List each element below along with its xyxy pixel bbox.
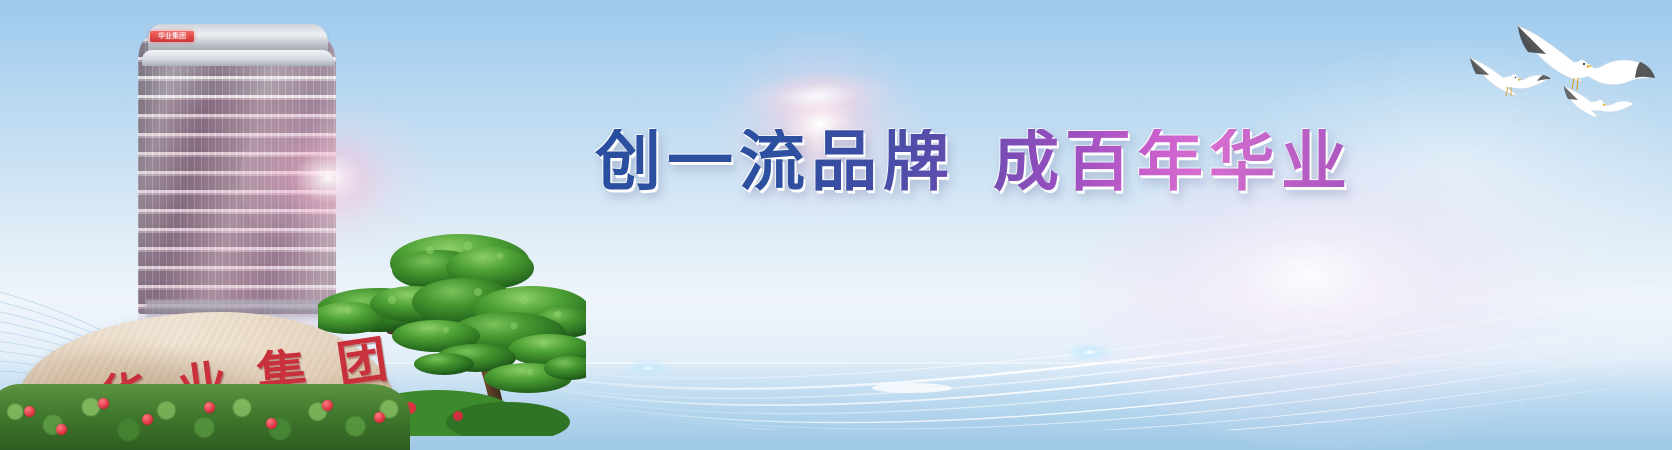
hedge-flower <box>56 424 67 435</box>
hero-banner: 华业集团 <box>0 0 1672 450</box>
hedge-flower <box>98 398 109 409</box>
hedge-flower <box>24 406 35 417</box>
slogan-part-1: 创一流品牌 <box>595 123 955 200</box>
flower-hedge <box>0 384 410 450</box>
office-tower-building: 华业集团 <box>138 24 336 314</box>
tower-facade <box>138 38 336 314</box>
hedge-flower <box>374 412 385 423</box>
slogan-headline: 创一流品牌成百年华业 <box>595 129 1353 195</box>
tower-crown-band <box>142 50 334 66</box>
hedge-flower <box>142 414 153 425</box>
seagull-group <box>1378 8 1668 120</box>
hedge-flower <box>322 400 333 411</box>
hedge-flower <box>204 402 215 413</box>
hedge-flower <box>266 418 277 429</box>
seagull-small-right <box>1564 86 1634 118</box>
building-sign: 华业集团 <box>150 31 194 42</box>
seagull-small-left <box>1470 58 1551 96</box>
hedge-foliage <box>0 384 410 450</box>
slogan-part-2: 成百年华业 <box>993 123 1353 200</box>
